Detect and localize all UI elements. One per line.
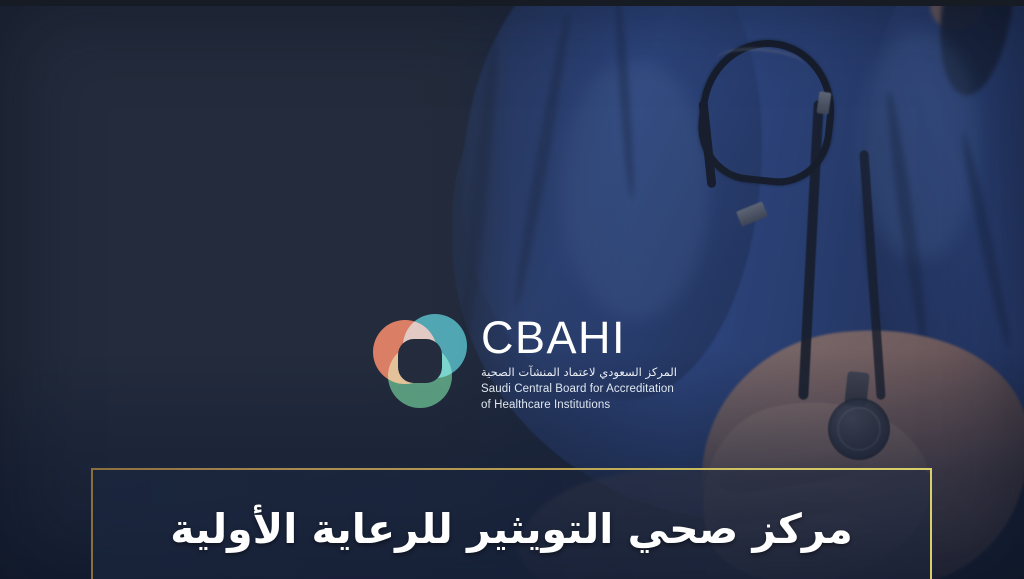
cbahi-subtitle-arabic: المركز السعودي لاعتماد المنشآت الصحية [481,365,677,381]
cbahi-wordmark-block: CBAHI المركز السعودي لاعتماد المنشآت الص… [481,314,677,412]
facility-name-banner: مركز صحي التويثير للرعاية الأولية [91,468,932,579]
top-edge-strip [0,0,1024,6]
cbahi-subtitle-english-line2: of Healthcare Institutions [481,398,677,413]
cbahi-wordmark: CBAHI [481,316,677,360]
cbahi-logo: CBAHI المركز السعودي لاعتماد المنشآت الص… [373,314,677,412]
banner-stage: CBAHI المركز السعودي لاعتماد المنشآت الص… [0,0,1024,579]
cbahi-ring-icon [373,314,467,408]
logo-center-hole [398,339,442,383]
cbahi-subtitle-english-line1: Saudi Central Board for Accreditation [481,382,677,397]
facility-name-text: مركز صحي التويثير للرعاية الأولية [170,507,853,556]
